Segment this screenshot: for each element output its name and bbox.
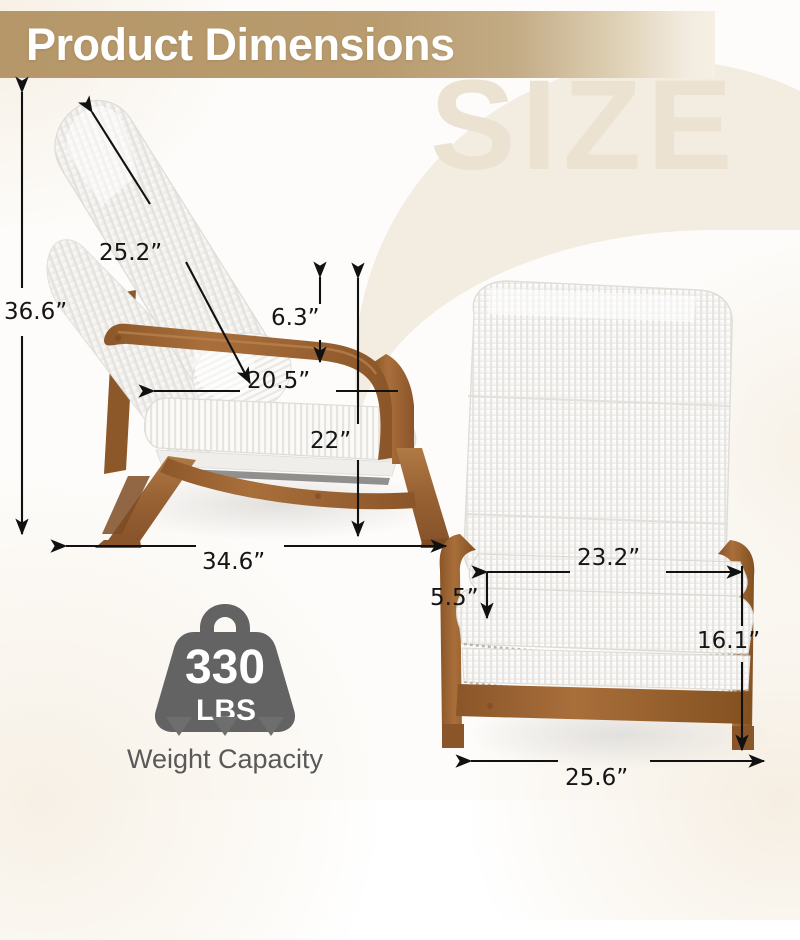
weight-amount-text: 330 bbox=[185, 641, 265, 694]
weight-down-arrows-icon bbox=[120, 714, 330, 740]
dimension-label-backrest-length: 25.2” bbox=[99, 240, 162, 266]
dimension-label-overall-depth: 34.6” bbox=[202, 549, 265, 575]
dimension-label-cushion-thickness: 5.5” bbox=[430, 585, 479, 611]
dimension-label-seat-height: 16.1” bbox=[697, 628, 760, 654]
weight-capacity-caption: Weight Capacity bbox=[120, 744, 330, 775]
dimension-label-armrest-height: 22” bbox=[310, 428, 351, 454]
dimension-label-overall-width: 25.6” bbox=[565, 765, 628, 791]
dimension-label-seat-depth: 20.5” bbox=[247, 368, 310, 394]
dimension-label-overall-height: 36.6” bbox=[4, 299, 67, 325]
weight-capacity-block: 330 LBS Weight Capacity bbox=[120, 598, 330, 778]
dimension-label-armrest-to-seat-height: 6.3” bbox=[271, 305, 320, 331]
dimension-label-seat-width: 23.2” bbox=[577, 545, 640, 571]
infographic-canvas: SIZE Product Dimensions bbox=[0, 0, 800, 800]
